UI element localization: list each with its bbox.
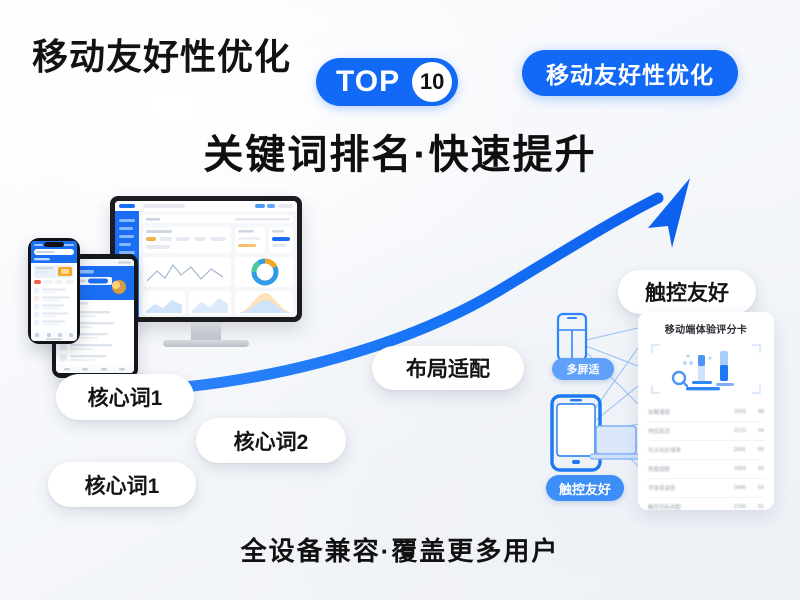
multi-screen-tag: 多屏适 [552,358,614,380]
scorecard-title: 移动端体验评分卡 [648,321,764,336]
row-score: 93 [746,485,764,491]
monitor-stand-base [163,340,249,347]
row-label: 触控目标间距 [648,503,716,511]
phone-bezel [28,238,80,344]
row-value: 2693 [716,409,746,415]
scorecard-row-list: 加载速度 2693 98 响应延迟 3120 94 可点击区域率 2641 96… [648,403,764,516]
row-value: 3120 [716,428,746,434]
keyword-pill-3[interactable]: 核心词1 [48,462,196,507]
table-row: 字体易读性 3486 93 [648,479,764,498]
row-value: 2459 [716,466,746,472]
row-value: 2641 [716,447,746,453]
row-score: 94 [746,428,764,434]
mobile-experience-scorecard: 移动端体验评分卡 [638,312,774,510]
row-score: 91 [746,504,764,510]
desktop-monitor-mockup [110,196,302,347]
phone-app-screen [31,241,77,341]
row-score: 96 [746,447,764,453]
row-value: 2249 [716,504,746,510]
layout-adaptation-pill[interactable]: 布局适配 [372,346,524,390]
device-mockup-cluster [28,196,318,386]
page-title: 移动友好性优化 [32,28,291,80]
row-label: 视窗适配 [648,465,716,473]
row-score: 98 [746,409,764,415]
keyword-pill-1[interactable]: 核心词1 [56,374,194,420]
row-label: 响应延迟 [648,427,716,435]
device-network-diagram: 多屏适 触控友好 移动端体验评分卡 [534,300,784,525]
scorecard-chart [648,341,764,397]
footer-caption: 全设备兼容·覆盖更多用户 [0,531,800,568]
keyword-pill-2[interactable]: 核心词2 [196,418,346,463]
poster-canvas: 移动友好性优化 TOP 10 移动友好性优化 关键词排名·快速提升 [0,0,800,600]
table-row: 可点击区域率 2641 96 [648,441,764,460]
scorecard-bar-illustration [648,341,764,397]
table-row: 响应延迟 3120 94 [648,422,764,441]
touch-friendly-tag: 触控友好 [546,475,624,501]
phone-notch [44,242,64,247]
table-row: 加载速度 2693 98 [648,403,764,422]
monitor-bezel [110,196,302,322]
row-score: 90 [746,466,764,472]
row-label: 可点击区域率 [648,446,716,454]
table-row: 视窗适配 2459 90 [648,460,764,479]
top-badge-number: 10 [412,62,452,102]
row-label: 加载速度 [648,408,716,416]
monitor-stand-neck [191,322,221,340]
header-tag-badge: 移动友好性优化 [522,50,738,96]
monitor-dashboard-screen [115,201,297,317]
phone-mockup [28,238,80,344]
row-label: 字体易读性 [648,484,716,492]
top-badge-word: TOP [336,67,412,97]
top-rank-badge: TOP 10 [316,58,458,106]
row-value: 3486 [716,485,746,491]
table-row: 触控目标间距 2249 91 [648,498,764,516]
